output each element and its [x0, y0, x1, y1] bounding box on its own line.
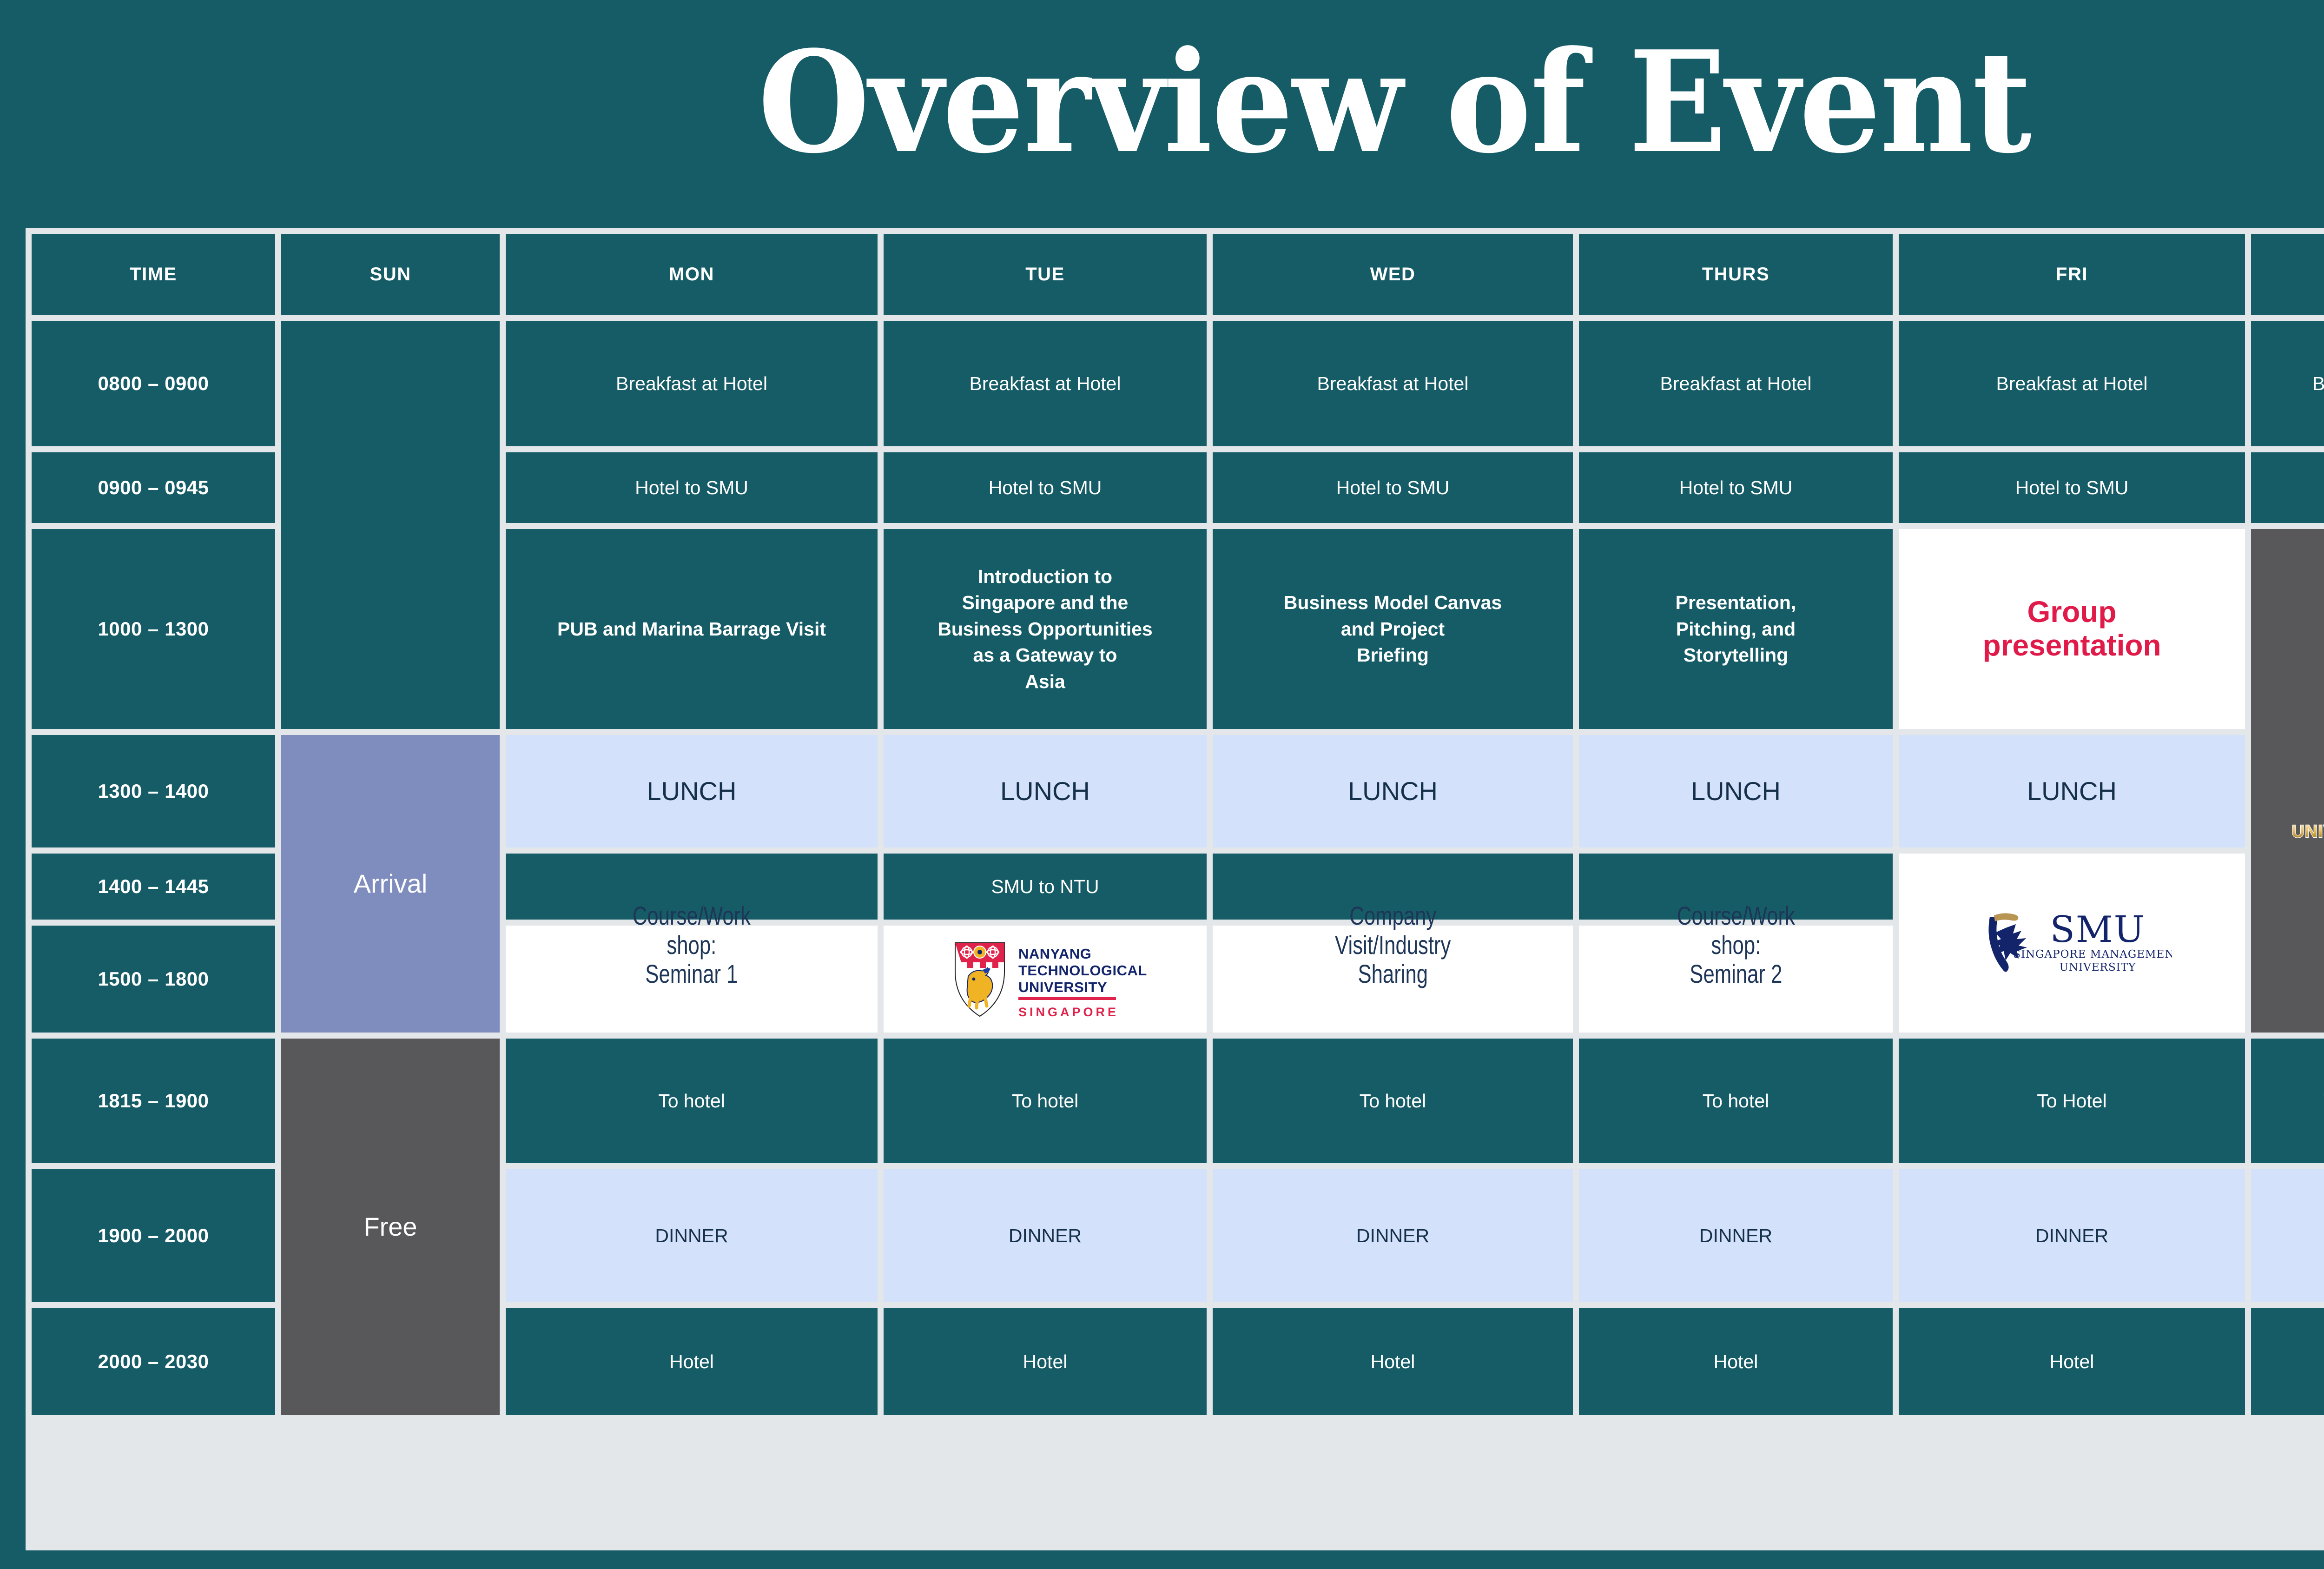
uss-logo-line1: UNIVERSAL STUDIOS	[2291, 822, 2324, 841]
header-label: THURS	[1702, 264, 1769, 285]
time-label-0900-0945: 0900 – 0945	[32, 452, 275, 523]
cell-mon-lunch: LUNCH	[506, 735, 878, 847]
cell-fri-hotel-to-smu: Hotel to SMU	[1899, 452, 2245, 523]
cell-tue-dinner: DINNER	[884, 1169, 1207, 1302]
cell-wed-hotel: Hotel	[1213, 1308, 1573, 1415]
cell-mon-hotel-to-smu: Hotel to SMU	[506, 452, 878, 523]
cell-tue-hotel: Hotel	[884, 1308, 1207, 1415]
cell-wed-to-hotel: To hotel	[1213, 1039, 1573, 1163]
cell-fri-smu-logo: SMU SINGAPORE MANAGEMENT UNIVERSITY	[1899, 854, 2245, 1033]
column-header-sat: SAT	[2251, 234, 2324, 315]
cell-text: Introduction to Singapore and the Busine…	[938, 563, 1152, 695]
cell-fri-to-hotel: To Hotel	[1899, 1039, 2245, 1163]
cell-wed-company-visit: Company Visit/Industry Sharing	[1213, 926, 1573, 1033]
cell-tue-intro-singapore: Introduction to Singapore and the Busine…	[884, 529, 1207, 729]
cell-text: Course/Work shop: Seminar 1	[633, 901, 751, 989]
cell-wed-breakfast: Breakfast at Hotel	[1213, 321, 1573, 446]
cell-thurs-pitching: Presentation, Pitching, and Storytelling	[1579, 529, 1893, 729]
cell-tue-breakfast: Breakfast at Hotel	[884, 321, 1207, 446]
cell-text: PUB and Marina Barrage Visit	[557, 616, 826, 642]
cell-tue-smu-to-ntu: SMU to NTU	[884, 854, 1207, 920]
time-label-1000-1300: 1000 – 1300	[32, 529, 275, 729]
cell-sun1-free: Free	[281, 1039, 500, 1415]
cell-sat-to-dinner-place: To dinner place	[2251, 1039, 2324, 1163]
page-title: Overview of Event	[112, 33, 2324, 172]
cell-thurs-hotel: Hotel	[1579, 1308, 1893, 1415]
cell-text: Business Model Canvas and Project Briefi…	[1284, 589, 1502, 669]
cell-thurs-dinner: DINNER	[1579, 1169, 1893, 1302]
column-header-wed: WED	[1213, 234, 1573, 315]
time-label-1900-2000: 1900 – 2000	[32, 1169, 275, 1302]
cell-mon-seminar1: Course/Work shop: Seminar 1	[506, 926, 878, 1033]
smu-logo-acronym: SMU	[2050, 909, 2145, 951]
cell-wed-bmc: Business Model Canvas and Project Briefi…	[1213, 529, 1573, 729]
time-label-1400-1445: 1400 – 1445	[32, 854, 275, 920]
cell-fri-breakfast: Breakfast at Hotel	[1899, 321, 2245, 446]
time-label-1300-1400: 1300 – 1400	[32, 735, 275, 847]
column-header-mon: MON	[506, 234, 878, 315]
cell-wed-dinner: DINNER	[1213, 1169, 1573, 1302]
cell-fri-dinner: DINNER	[1899, 1169, 2245, 1302]
cell-sat-hotel-to-uss: Hotel to USS	[2251, 452, 2324, 523]
cell-mon-to-hotel: To hotel	[506, 1039, 878, 1163]
cell-thurs-to-hotel: To hotel	[1579, 1039, 1893, 1163]
ntu-logo-line3: UNIVERSITY	[1018, 979, 1107, 995]
cell-sat-back-to-hotel: Back to hotel	[2251, 1308, 2324, 1415]
cell-sat-breakfast: Breakfast at Hotel	[2251, 321, 2324, 446]
cell-tue-ntu-logo: NANYANG TECHNOLOGICAL UNIVERSITY SINGAPO…	[884, 926, 1207, 1033]
cell-sun1-arrival: Arrival	[281, 735, 500, 1033]
ntu-logo-icon: NANYANG TECHNOLOGICAL UNIVERSITY SINGAPO…	[938, 936, 1152, 1022]
cell-mon-dinner: DINNER	[506, 1169, 878, 1302]
cell-wed-hotel-to-smu: Hotel to SMU	[1213, 452, 1573, 523]
uss-content: Universal Studio Singapore	[2291, 693, 2324, 868]
cell-text: Company Visit/Industry Sharing	[1335, 901, 1451, 989]
schedule-table: TIME SUN MON TUE WED THURS FRI SAT SUN 0…	[26, 228, 2324, 1550]
header-label: MON	[669, 264, 714, 285]
cell-text: Group presentation	[1982, 596, 2161, 662]
column-header-tue: TUE	[884, 234, 1207, 315]
cell-thurs-breakfast: Breakfast at Hotel	[1579, 321, 1893, 446]
column-header-sun1: SUN	[281, 234, 500, 315]
cell-tue-hotel-to-smu: Hotel to SMU	[884, 452, 1207, 523]
cell-fri-hotel: Hotel	[1899, 1308, 2245, 1415]
header-label: TUE	[1025, 264, 1065, 285]
column-header-thurs: THURS	[1579, 234, 1893, 315]
ntu-logo-line2: TECHNOLOGICAL	[1018, 962, 1147, 979]
smu-logo-line1: SINGAPORE MANAGEMENT	[2013, 948, 2172, 960]
cell-wed-lunch: LUNCH	[1213, 735, 1573, 847]
cell-fri-group-presentation: Group presentation	[1899, 529, 2245, 729]
cell-sat-graduation-dinner: GRADUATION DINNER	[2251, 1169, 2324, 1302]
cell-tue-lunch: LUNCH	[884, 735, 1207, 847]
time-label-1500-1800: 1500 – 1800	[32, 926, 275, 1033]
universal-studios-singapore-logo-icon: UNIVERSAL STUDIOS SINGAPORE	[2291, 799, 2324, 869]
column-header-fri: FRI	[1899, 234, 2245, 315]
smu-logo-line2: UNIVERSITY	[2059, 961, 2136, 973]
cell-thurs-hotel-to-smu: Hotel to SMU	[1579, 452, 1893, 523]
title-bar: Overview of Event	[0, 33, 2324, 172]
sun-empty-morning	[281, 321, 500, 729]
header-label: TIME	[130, 264, 177, 285]
cell-mon-hotel: Hotel	[506, 1308, 878, 1415]
header-label: FRI	[2056, 264, 2088, 285]
cell-sat-universal-studio: Universal Studio Singapore	[2251, 529, 2324, 1033]
ntu-logo-line1: NANYANG	[1018, 946, 1091, 962]
cell-mon-pub-marina: PUB and Marina Barrage Visit	[506, 529, 878, 729]
column-header-time: TIME	[32, 234, 275, 315]
time-label-0800-0900: 0800 – 0900	[32, 321, 275, 446]
cell-fri-lunch: LUNCH	[1899, 735, 2245, 847]
header-label: WED	[1370, 264, 1416, 285]
header-label: SUN	[370, 264, 411, 285]
time-label-1815-1900: 1815 – 1900	[32, 1039, 275, 1163]
cell-text: Presentation, Pitching, and Storytelling	[1676, 589, 1796, 669]
cell-tue-to-hotel: To hotel	[884, 1039, 1207, 1163]
cell-mon-breakfast: Breakfast at Hotel	[506, 321, 878, 446]
ntu-logo-line4: SINGAPORE	[1018, 1005, 1119, 1019]
smu-logo-icon: SMU SINGAPORE MANAGEMENT UNIVERSITY	[1972, 904, 2172, 983]
cell-thurs-lunch: LUNCH	[1579, 735, 1893, 847]
time-label-2000-2030: 2000 – 2030	[32, 1308, 275, 1415]
cell-thurs-seminar2: Course/Work shop: Seminar 2	[1579, 926, 1893, 1033]
cell-text: Course/Work shop: Seminar 2	[1677, 901, 1795, 989]
